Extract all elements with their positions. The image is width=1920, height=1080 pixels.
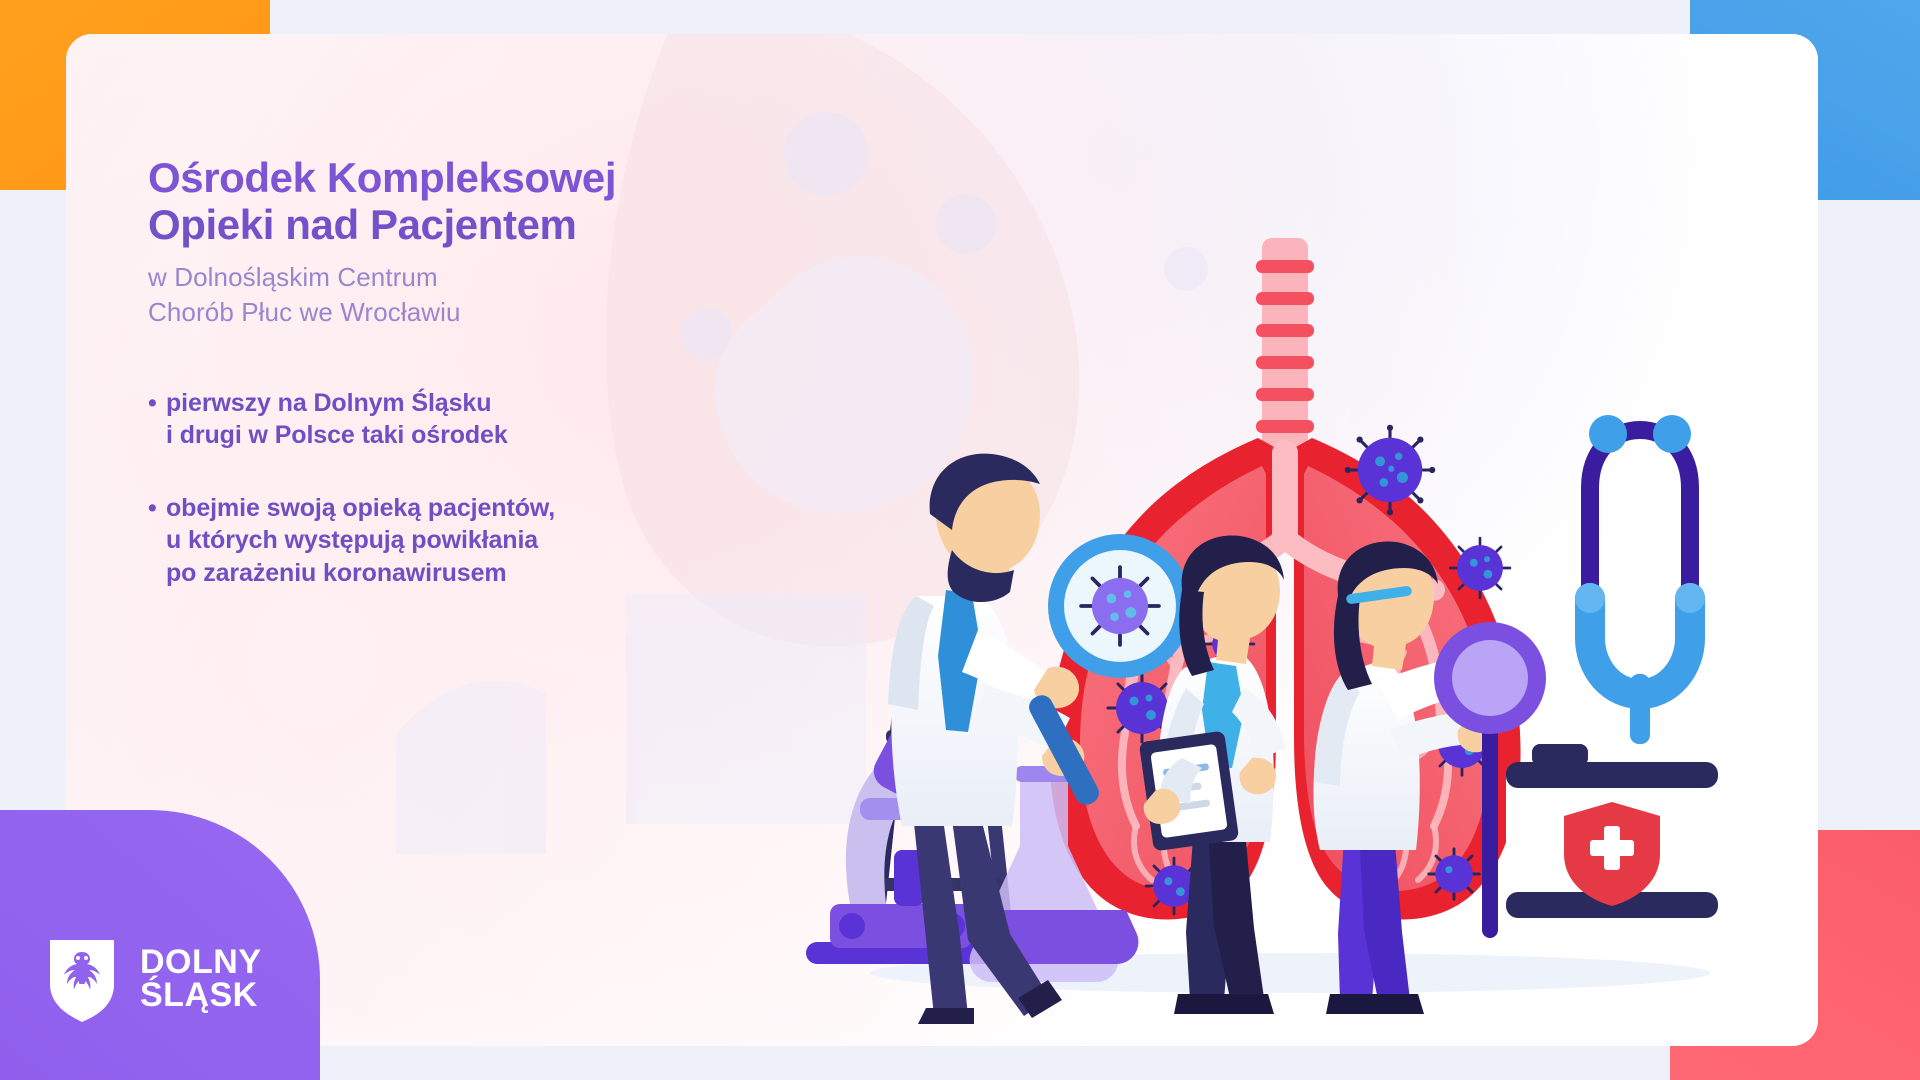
bullet-2-line-3: po zarażeniu koronawirusem: [166, 557, 555, 590]
bullet-2-line-1: obejmie swoją opieką pacjentów,: [166, 492, 555, 525]
list-item: • pierwszy na Dolnym Śląsku i drugi w Po…: [148, 387, 788, 452]
first-aid-kit-icon: [1506, 744, 1718, 918]
poster-canvas: Ośrodek Kompleksowej Opieki nad Pacjente…: [0, 0, 1920, 1080]
subtitle-line-2: Chorób Płuc we Wrocławiu: [148, 297, 461, 327]
logo-wordmark: DOLNY ŚLĄSK: [140, 946, 262, 1013]
subtitle-line-1: w Dolnośląskim Centrum: [148, 262, 438, 292]
bullet-marker-icon: •: [148, 387, 164, 420]
bullet-2-line-2: u których występują powikłania: [166, 524, 555, 557]
covid-lungs-examination-illustration: [790, 238, 1800, 1028]
logo-word-line-1: DOLNY: [140, 943, 262, 981]
bullet-1-line-1: pierwszy na Dolnym Śląsku: [166, 387, 508, 420]
silesian-eagle-crest-icon: [46, 936, 118, 1022]
logo-dolny-slask: DOLNY ŚLĄSK: [46, 936, 262, 1022]
bullet-text: pierwszy na Dolnym Śląsku i drugi w Pols…: [166, 387, 508, 452]
bullet-1-line-2: i drugi w Polsce taki ośrodek: [166, 419, 508, 452]
page-subtitle: w Dolnośląskim Centrum Chorób Płuc we Wr…: [148, 260, 788, 331]
logo-word-line-2: ŚLĄSK: [140, 976, 258, 1014]
bullet-list: • pierwszy na Dolnym Śląsku i drugi w Po…: [148, 387, 788, 590]
headline-line-1: Ośrodek Kompleksowej: [148, 154, 616, 201]
bullet-marker-icon: •: [148, 492, 164, 525]
text-column: Ośrodek Kompleksowej Opieki nad Pacjente…: [148, 154, 788, 589]
illustration-svg: [790, 238, 1800, 1028]
list-item: • obejmie swoją opieką pacjentów, u któr…: [148, 492, 788, 590]
headline-line-2: Opieki nad Pacjentem: [148, 201, 577, 248]
page-title: Ośrodek Kompleksowej Opieki nad Pacjente…: [148, 154, 788, 248]
trachea-graphic: [1256, 238, 1314, 448]
bullet-text: obejmie swoją opieką pacjentów, u któryc…: [166, 492, 555, 590]
content-card: Ośrodek Kompleksowej Opieki nad Pacjente…: [66, 34, 1818, 1046]
stethoscope-icon: [1575, 415, 1705, 744]
